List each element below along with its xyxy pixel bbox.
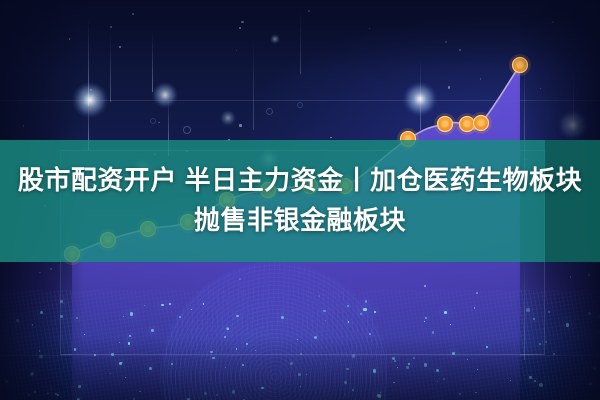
banner-image: 股市配资开户 半日主力资金丨加仓医药生物板块 抛售非银金融板块	[0, 0, 600, 400]
page-title: 股市配资开户 半日主力资金丨加仓医药生物板块 抛售非银金融板块	[0, 160, 600, 240]
headline-line-2: 抛售非银金融板块	[0, 200, 600, 240]
headline-line-1: 股市配资开户 半日主力资金丨加仓医药生物板块	[18, 165, 582, 195]
